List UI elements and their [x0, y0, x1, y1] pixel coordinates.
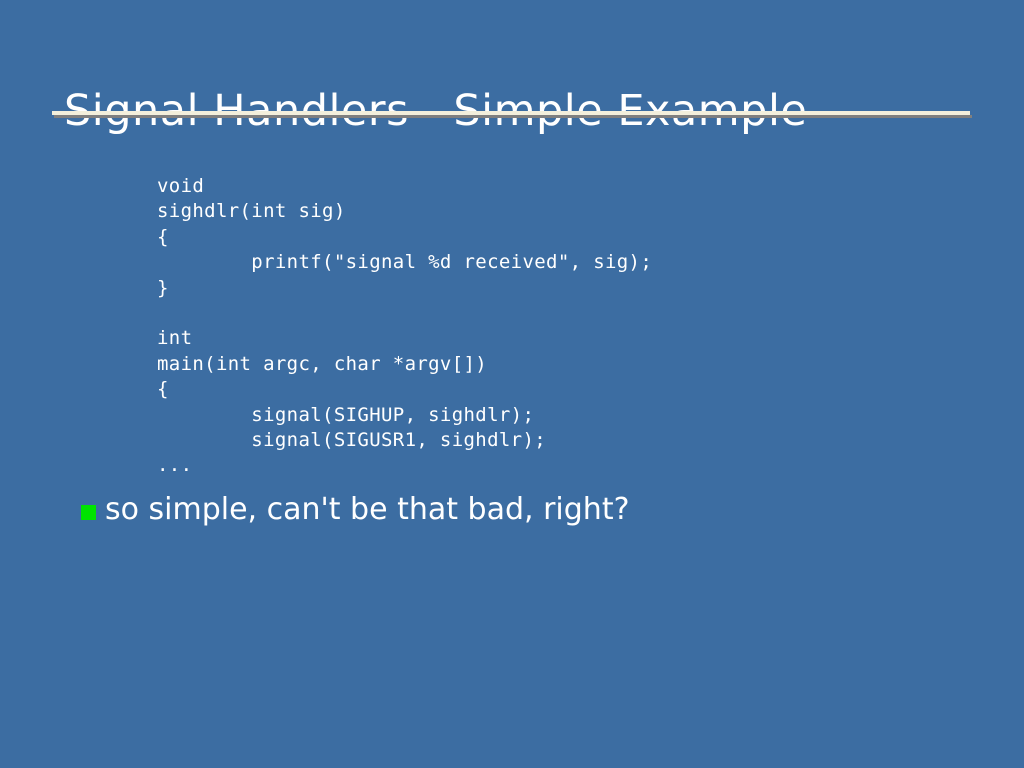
code-listing: void sighdlr(int sig) { printf("signal %… — [157, 174, 652, 479]
square-bullet-icon — [81, 505, 96, 520]
title-rule-shadow — [54, 115, 972, 118]
presentation-slide: Signal Handlers - Simple Example void si… — [0, 0, 1024, 768]
bullet-item: so simple, can't be that bad, right? — [81, 490, 630, 530]
title-underline-rule — [52, 111, 970, 118]
bullet-item-label: so simple, can't be that bad, right? — [105, 490, 630, 530]
